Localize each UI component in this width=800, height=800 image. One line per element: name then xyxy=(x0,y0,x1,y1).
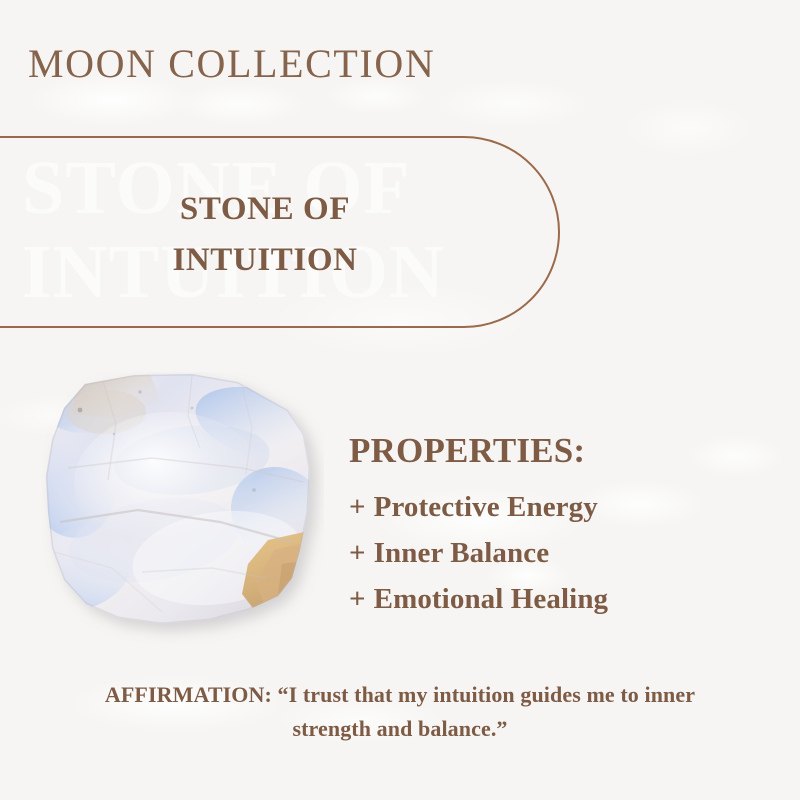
property-item: +Emotional Healing xyxy=(349,576,769,622)
affirmation-line-1: AFFIRMATION: “I trust that my intuition … xyxy=(38,678,762,712)
affirmation-line-2: strength and balance.” xyxy=(38,712,762,746)
stone-name-line-2: INTUITION xyxy=(120,235,410,286)
property-label: Inner Balance xyxy=(374,537,550,569)
property-bullet-icon: + xyxy=(349,583,366,615)
property-item: +Protective Energy xyxy=(349,484,769,530)
properties-section: PROPERTIES: +Protective Energy +Inner Ba… xyxy=(349,430,769,622)
properties-heading: PROPERTIES: xyxy=(349,430,769,472)
collection-title: MOON COLLECTION xyxy=(28,44,435,84)
property-bullet-icon: + xyxy=(349,491,366,523)
stone-name-line-1: STONE OF xyxy=(120,184,410,235)
property-item: +Inner Balance xyxy=(349,530,769,576)
affirmation-block: AFFIRMATION: “I trust that my intuition … xyxy=(38,678,762,746)
property-label: Emotional Healing xyxy=(374,583,609,615)
crystal-info-card: MOON COLLECTION STONE OF INTUITION STONE… xyxy=(0,0,800,800)
moonstone-image xyxy=(42,372,324,644)
property-bullet-icon: + xyxy=(349,537,366,569)
property-label: Protective Energy xyxy=(374,491,598,523)
stone-name-label: STONE OF INTUITION xyxy=(120,184,410,286)
